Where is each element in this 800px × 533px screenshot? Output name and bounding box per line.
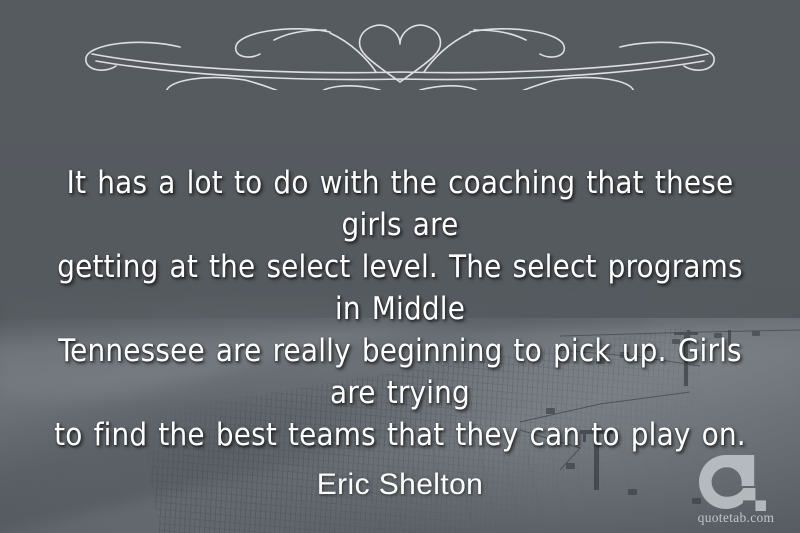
watermark[interactable]: quotetab.com: [682, 455, 790, 529]
quote-line: getting at the select level. The select …: [50, 246, 750, 330]
ornament-flourish-icon: [0, 4, 800, 90]
quotetab-q-logo-icon: [699, 455, 773, 511]
quote-line: to find the best teams that they can to …: [50, 414, 750, 456]
watermark-text: quotetab.com: [682, 510, 790, 526]
quote-text: It has a lot to do with the coaching tha…: [50, 162, 750, 456]
quote-line: Tennessee are really beginning to pick u…: [50, 330, 750, 414]
quote-card: It has a lot to do with the coaching tha…: [0, 0, 800, 533]
quote-line: It has a lot to do with the coaching tha…: [50, 162, 750, 246]
author-name: Eric Shelton: [0, 468, 800, 502]
